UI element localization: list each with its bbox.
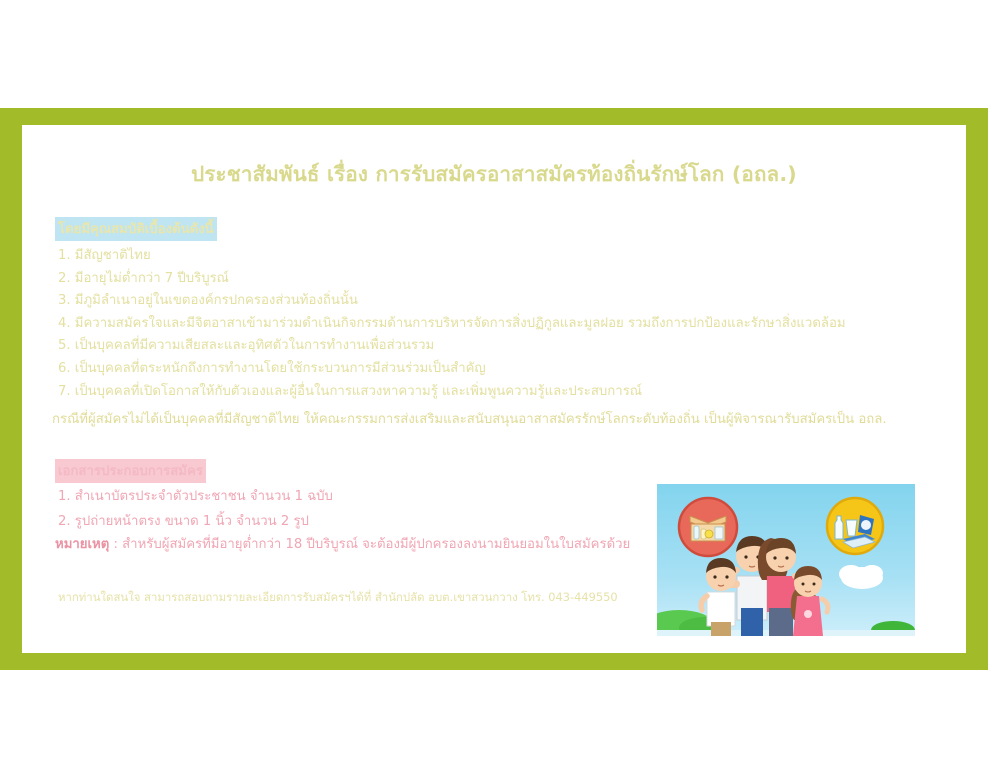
list-item: 3. มีภูมิลำเนาอยู่ในเขตองค์กรปกครองส่วนท… xyxy=(58,289,938,312)
recycle-badge-right xyxy=(827,498,883,554)
recycle-badge-left xyxy=(679,498,737,556)
documents-heading: เอกสารประกอบการสมัคร xyxy=(55,459,206,483)
page-title: ประชาสัมพันธ์ เรื่อง การรับสมัครอาสาสมัค… xyxy=(22,158,966,191)
list-item: 2. รูปถ่ายหน้าตรง ขนาด 1 นิ้ว จำนวน 2 รู… xyxy=(58,510,758,535)
qualifications-list: 1. มีสัญชาติไทย 2. มีอายุไม่ต่ำกว่า 7 ปี… xyxy=(58,244,938,402)
list-item: 4. มีความสมัครใจและมีจิตอาสาเข้ามาร่วมดำ… xyxy=(58,312,938,335)
remark-text: : สำหรับผู้สมัครที่มีอายุต่ำกว่า 18 ปีบร… xyxy=(109,537,630,552)
list-item: 2. มีอายุไม่ต่ำกว่า 7 ปีบริบูรณ์ xyxy=(58,267,938,290)
poster-green-frame: ประชาสัมพันธ์ เรื่อง การรับสมัครอาสาสมัค… xyxy=(0,108,988,670)
list-item: 5. เป็นบุคคลที่มีความเสียสละและอุทิศตัวใ… xyxy=(58,334,938,357)
family-recycling-illustration xyxy=(657,484,915,636)
list-item: 1. มีสัญชาติไทย xyxy=(58,244,938,267)
list-item: 7. เป็นบุคคลที่เปิดโอกาสให้กับตัวเองและผ… xyxy=(58,380,938,403)
qualifications-note: กรณีที่ผู้สมัครไม่ได้เป็นบุคคลที่มีสัญชา… xyxy=(52,408,887,429)
documents-remark: หมายเหตุ : สำหรับผู้สมัครที่มีอายุต่ำกว่… xyxy=(55,533,630,554)
qualifications-heading: โดยมีคุณสมบัติเบื้องต้นดังนี้ xyxy=(55,217,217,241)
list-item: 1. สำเนาบัตรประจำตัวประชาชน จำนวน 1 ฉบับ xyxy=(58,485,758,510)
documents-list: 1. สำเนาบัตรประจำตัวประชาชน จำนวน 1 ฉบับ… xyxy=(58,485,758,535)
remark-label: หมายเหตุ xyxy=(55,537,109,552)
list-item: 6. เป็นบุคคลที่ตระหนักถึงการทำงานโดยใช้ก… xyxy=(58,357,938,380)
poster-white-sheet: ประชาสัมพันธ์ เรื่อง การรับสมัครอาสาสมัค… xyxy=(22,125,966,653)
footer-contact-line: หากท่านใดสนใจ สามารถสอบถามรายละเอียดการร… xyxy=(58,589,618,607)
